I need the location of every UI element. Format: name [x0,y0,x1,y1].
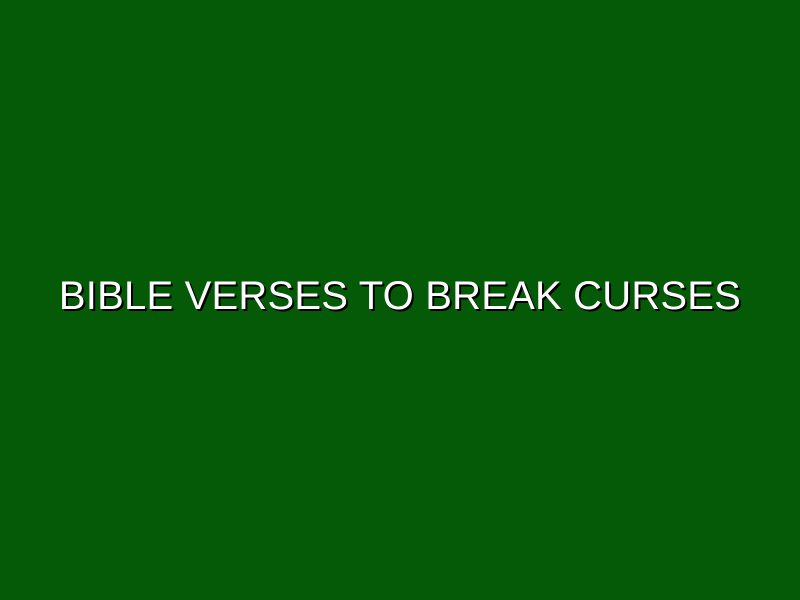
title-block: BIBLE VERSES TO BREAK CURSES [0,0,800,600]
title-card-canvas: BIBLE VERSES TO BREAK CURSES [0,0,800,600]
page-title: BIBLE VERSES TO BREAK CURSES [59,274,741,318]
